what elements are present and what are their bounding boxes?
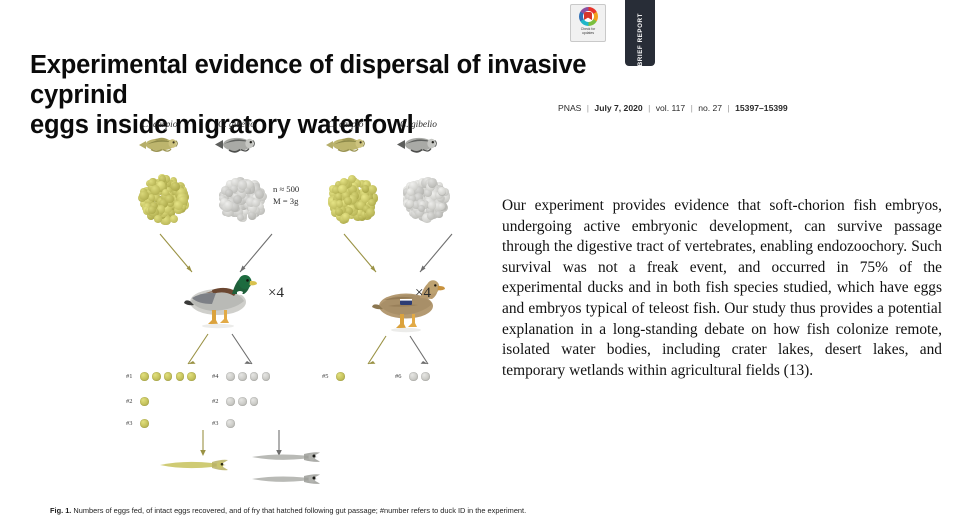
recovered-egg xyxy=(226,372,235,381)
recovered-row: #2 xyxy=(212,397,258,406)
duck-id-label: #5 xyxy=(322,373,333,380)
egg-clutch-gibelio-2 xyxy=(400,176,456,228)
citation-issue: no. 27 xyxy=(698,103,722,113)
duck-id-label: #6 xyxy=(395,373,406,380)
fish-carpio-2 xyxy=(322,134,368,154)
arrow-eggs-to-fry-carpio xyxy=(196,430,210,460)
fish-carpio-1 xyxy=(135,134,181,154)
egg-particle xyxy=(338,185,346,193)
species-label-0: C. carpio xyxy=(142,120,177,130)
egg-particle xyxy=(252,199,259,206)
citation-sep-4: | xyxy=(724,103,732,113)
crossmark-badge[interactable]: Check for updates xyxy=(570,4,606,42)
dose-n-label: n ≈ 500 xyxy=(273,184,299,194)
egg-clutch-gibelio-1 xyxy=(216,176,272,228)
duck-id-label: #3 xyxy=(126,420,137,427)
duck-multiplier-1: ×4 xyxy=(415,285,431,302)
recovered-egg xyxy=(226,397,235,406)
dose-mass-label: M = 3g xyxy=(273,196,298,206)
egg-particle xyxy=(406,200,413,207)
egg-particle xyxy=(362,185,370,193)
egg-particle xyxy=(428,201,436,209)
duck-id-label: #2 xyxy=(212,398,223,405)
recovered-egg xyxy=(238,397,247,406)
recovered-egg xyxy=(226,419,235,428)
recovered-egg xyxy=(187,372,196,381)
recovered-egg xyxy=(238,372,247,381)
recovered-egg xyxy=(262,372,271,381)
egg-clutch-carpio-1 xyxy=(138,174,194,226)
fry-gibelio-2 xyxy=(250,472,322,486)
duck-id-label: #4 xyxy=(212,373,223,380)
recovered-row: #6 xyxy=(395,372,430,381)
caption-label: Fig. 1. xyxy=(50,506,71,515)
egg-particle xyxy=(342,213,350,221)
egg-particle xyxy=(407,188,415,196)
recovered-egg xyxy=(250,372,259,381)
recovered-egg xyxy=(336,372,345,381)
article-page: Check for updates BRIEF REPORT Experimen… xyxy=(0,0,960,521)
species-label-3: C. gibelio xyxy=(400,120,437,130)
egg-particle xyxy=(366,208,375,217)
duck-female-mallard xyxy=(370,272,446,334)
citation-sep-3: | xyxy=(688,103,696,113)
figure-1: C. carpioC. gibelioC. carpioC. gibelio xyxy=(30,120,490,500)
egg-particle xyxy=(170,215,178,223)
citation-line: PNAS | July 7, 2020 | vol. 117 | no. 27 … xyxy=(558,103,788,113)
recovered-row: #1 xyxy=(126,372,196,381)
citation-journal: PNAS xyxy=(558,103,581,113)
recovered-egg xyxy=(409,372,418,381)
figure-caption: Fig. 1. Numbers of eggs fed, of intact e… xyxy=(50,506,930,516)
body-paragraph: Our experiment provides evidence that so… xyxy=(502,196,942,381)
arrow-duck1-to-eggs-carpio xyxy=(180,332,216,372)
egg-particle xyxy=(361,194,369,202)
egg-particle xyxy=(154,215,161,222)
egg-particle xyxy=(151,185,160,194)
egg-particle xyxy=(438,187,446,195)
dose-annotation: n ≈ 500 M = 3g xyxy=(273,184,299,207)
duck-id-label: #1 xyxy=(126,373,137,380)
recovered-egg xyxy=(421,372,430,381)
recovered-row: #5 xyxy=(322,372,345,381)
recovered-egg xyxy=(176,372,185,381)
egg-particle xyxy=(224,201,233,210)
citation-date: July 7, 2020 xyxy=(594,103,642,113)
egg-particle xyxy=(238,180,247,189)
citation-pages: 15397–15399 xyxy=(735,103,788,113)
duck-multiplier-0: ×4 xyxy=(268,285,284,302)
brief-report-label: BRIEF REPORT xyxy=(637,10,644,66)
arrow-duck2-to-eggs-gibelio xyxy=(404,334,440,372)
recovered-row: #3 xyxy=(126,419,149,428)
duck-male-mallard xyxy=(182,268,258,330)
egg-particle xyxy=(344,197,352,205)
crossmark-label: Check for updates xyxy=(581,27,596,36)
recovered-row: #2 xyxy=(126,397,149,406)
egg-particle xyxy=(139,191,148,200)
citation-sep-2: | xyxy=(645,103,653,113)
recovered-egg xyxy=(140,397,149,406)
egg-clutch-carpio-2 xyxy=(326,174,382,226)
recovered-row: #3 xyxy=(212,419,235,428)
fry-gibelio-1 xyxy=(250,450,322,464)
egg-particle xyxy=(368,185,377,194)
title-line-1: Experimental evidence of dispersal of in… xyxy=(30,51,586,109)
recovered-row: #4 xyxy=(212,372,270,381)
arrow-duck1-to-eggs-gibelio xyxy=(226,332,262,372)
egg-particle xyxy=(255,190,264,199)
species-label-2: C. carpio xyxy=(328,120,363,130)
fish-gibelio-1 xyxy=(212,134,258,154)
species-label-1: C. gibelio xyxy=(218,120,255,130)
egg-particle xyxy=(435,211,442,218)
caption-text: Numbers of eggs fed, of intact eggs reco… xyxy=(73,506,526,515)
duck-id-label: #2 xyxy=(126,398,137,405)
citation-volume: vol. 117 xyxy=(656,103,685,113)
fry-carpio xyxy=(158,458,230,472)
egg-particle xyxy=(427,212,436,221)
crossmark-ring-icon xyxy=(579,7,598,26)
arrow-duck2-to-eggs-carpio xyxy=(360,334,396,372)
duck-id-label: #3 xyxy=(212,420,223,427)
recovered-egg xyxy=(140,419,149,428)
recovered-egg xyxy=(250,397,259,406)
fish-gibelio-2 xyxy=(394,134,440,154)
recovered-egg xyxy=(140,372,149,381)
citation-sep-1: | xyxy=(584,103,592,113)
egg-particle xyxy=(368,199,375,206)
recovered-egg xyxy=(152,372,161,381)
egg-particle xyxy=(165,195,174,204)
egg-particle xyxy=(428,178,437,187)
recovered-egg xyxy=(164,372,173,381)
